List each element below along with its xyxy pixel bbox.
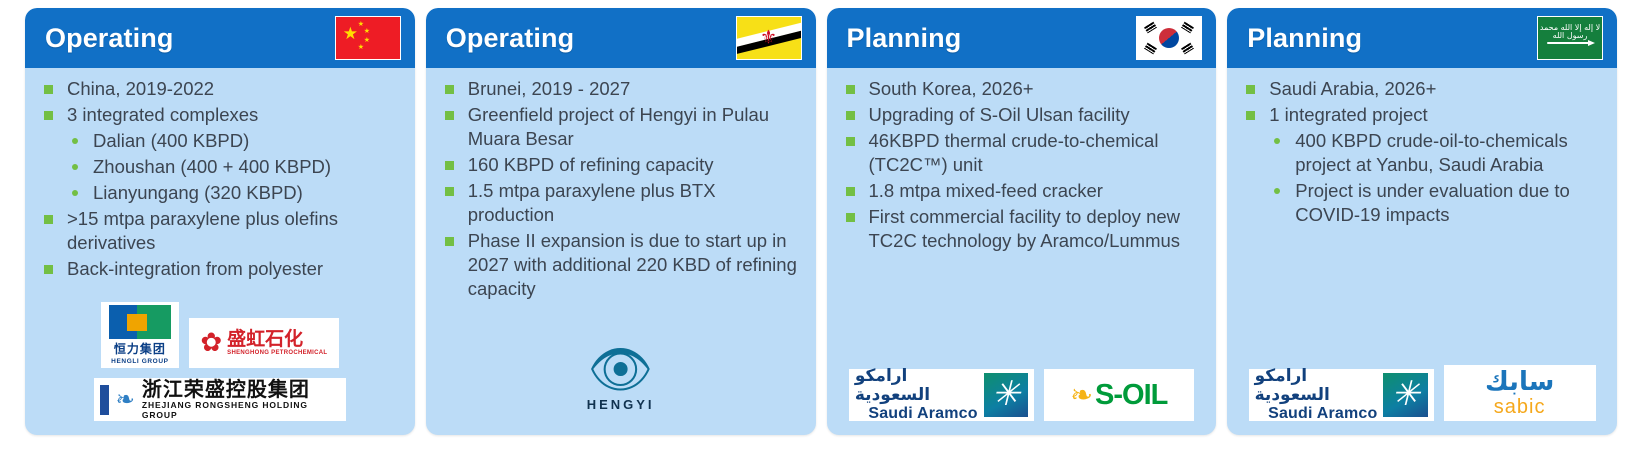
rongsheng-logo-cn: 浙江荣盛控股集团 <box>142 379 310 400</box>
list-item: Saudi Arabia, 2026+ <box>1241 77 1607 101</box>
card-header-china: Operating ★ ★ ★ ★ ★ <box>25 8 415 68</box>
bullet-list: Brunei, 2019 - 2027 Greenfield project o… <box>440 77 806 301</box>
project-status-card-board: Operating ★ ★ ★ ★ ★ China, 2019-2022 3 i… <box>0 0 1642 454</box>
list-item: 46KBPD thermal crude-to-chemical (TC2C™)… <box>841 129 1207 177</box>
flag-trigram <box>1144 22 1157 34</box>
list-item: First commercial facility to deploy new … <box>841 205 1207 253</box>
flag-star-large: ★ <box>343 25 358 42</box>
aramco-emblem-icon <box>984 373 1028 417</box>
flag-crest-icon: ⚜ <box>760 29 777 48</box>
card-body-china: China, 2019-2022 3 integrated complexes … <box>25 68 415 298</box>
s-oil-logo-en: S-OIL <box>1095 379 1167 412</box>
card-header-saudi-arabia: Planning لا إله إلا الله محمد رسول الله <box>1227 8 1617 68</box>
bullet-sublist: 400 KBPD crude-oil-to-chemicals project … <box>1267 129 1607 227</box>
status-title: Operating <box>45 25 173 52</box>
aramco-logo-en: Saudi Aramco <box>868 405 977 423</box>
project-card-south-korea: Planning South Korea, 2026+ Upgrading of… <box>827 8 1217 435</box>
flag-star-small: ★ <box>364 37 370 44</box>
list-item: Project is under evaluation due to COVID… <box>1267 179 1607 227</box>
hengli-group-logo: 恒力集团 HENGLI GROUP <box>101 302 179 368</box>
hengli-logo-en: HENGLI GROUP <box>111 358 168 365</box>
list-item: Back-integration from polyester <box>39 257 405 281</box>
list-item: 160 KBPD of refining capacity <box>440 153 806 177</box>
list-item: China, 2019-2022 <box>39 77 405 101</box>
saudi-aramco-logo: ارامكو السعودية Saudi Aramco <box>849 369 1034 421</box>
sabic-logo-en: sabic <box>1494 397 1546 417</box>
partner-logos-brunei: 👁 HENGYI <box>426 333 816 435</box>
card-header-brunei: Operating ⚜ <box>426 8 816 68</box>
brunei-flag: ⚜ <box>736 16 802 60</box>
zhejiang-rongsheng-holding-group-logo: ❧ 浙江荣盛控股集团 ZHEJIANG RONGSHENG HOLDING GR… <box>94 378 346 421</box>
status-title: Operating <box>446 25 574 52</box>
shenghong-swirl-icon: ✿ <box>200 330 222 356</box>
list-item: Greenfield project of Hengyi in Pulau Mu… <box>440 103 806 151</box>
list-item: Brunei, 2019 - 2027 <box>440 77 806 101</box>
card-header-south-korea: Planning <box>827 8 1217 68</box>
card-body-brunei: Brunei, 2019 - 2027 Greenfield project o… <box>426 68 816 333</box>
status-title: Planning <box>1247 25 1362 52</box>
list-item: >15 mtpa paraxylene plus olefins derivat… <box>39 207 405 255</box>
hengyi-logo-en: HENGYI <box>587 397 655 412</box>
aramco-logo-en: Saudi Aramco <box>1268 405 1377 423</box>
list-item: 1 integrated project <box>1241 103 1607 127</box>
project-card-saudi-arabia: Planning لا إله إلا الله محمد رسول الله … <box>1227 8 1617 435</box>
partner-logos-saudi-arabia: ارامكو السعودية Saudi Aramco سابك sabic <box>1227 361 1617 435</box>
list-item: Upgrading of S-Oil Ulsan facility <box>841 103 1207 127</box>
list-item: 400 KBPD crude-oil-to-chemicals project … <box>1267 129 1607 177</box>
hengyi-mark-icon: 👁 <box>588 346 654 395</box>
aramco-emblem-icon <box>1383 373 1427 417</box>
hengli-mark-icon <box>109 305 171 339</box>
list-item: Phase II expansion is due to start up in… <box>440 229 806 301</box>
flag-star-small: ★ <box>364 28 370 35</box>
list-item: Zhoushan (400 + 400 KBPD) <box>65 155 405 179</box>
bullet-list-continued: >15 mtpa paraxylene plus olefins derivat… <box>39 207 405 281</box>
rongsheng-bar-icon <box>100 385 109 415</box>
aramco-logo-ar: ارامكو السعودية <box>855 367 978 404</box>
flag-trigram <box>1181 22 1194 34</box>
sabic-logo-ar: سابك <box>1485 369 1554 396</box>
card-body-saudi-arabia: Saudi Arabia, 2026+ 1 integrated project… <box>1227 68 1617 361</box>
hengyi-logo: 👁 HENGYI <box>556 337 686 421</box>
card-body-south-korea: South Korea, 2026+ Upgrading of S-Oil Ul… <box>827 68 1217 365</box>
bullet-list: Saudi Arabia, 2026+ 1 integrated project <box>1241 77 1607 127</box>
flag-star-small: ★ <box>358 44 364 51</box>
china-flag: ★ ★ ★ ★ ★ <box>335 16 401 60</box>
s-oil-logo: ❧ S-OIL <box>1044 369 1194 421</box>
hengli-logo-cn: 恒力集团 <box>114 340 166 357</box>
saudi-aramco-logo: ارامكو السعودية Saudi Aramco <box>1249 369 1434 421</box>
list-item: 1.8 mtpa mixed-feed cracker <box>841 179 1207 203</box>
aramco-logo-ar: ارامكو السعودية <box>1255 367 1378 404</box>
partner-logos-south-korea: ارامكو السعودية Saudi Aramco ❧ S-OIL <box>827 365 1217 435</box>
flag-shahada-text: لا إله إلا الله محمد رسول الله <box>1538 24 1602 40</box>
rongsheng-logo-en: ZHEJIANG RONGSHENG HOLDING GROUP <box>142 400 340 420</box>
shenghong-logo-cn: 盛虹石化 <box>227 330 303 350</box>
south-korea-flag <box>1136 16 1202 60</box>
status-title: Planning <box>847 25 962 52</box>
list-item: Lianyungang (320 KBPD) <box>65 181 405 205</box>
flag-trigram <box>1144 43 1157 55</box>
partner-logos-china: 恒力集团 HENGLI GROUP ✿ 盛虹石化 SHENGHONG PETRO… <box>25 298 415 435</box>
list-item: 1.5 mtpa paraxylene plus BTX production <box>440 179 806 227</box>
shenghong-petrochemical-logo: ✿ 盛虹石化 SHENGHONG PETROCHEMICAL <box>189 318 339 368</box>
flag-trigram <box>1181 43 1194 55</box>
project-card-china: Operating ★ ★ ★ ★ ★ China, 2019-2022 3 i… <box>25 8 415 435</box>
shenghong-logo-en: SHENGHONG PETROCHEMICAL <box>227 350 327 356</box>
s-oil-sun-icon: ❧ <box>1070 382 1093 409</box>
flag-taeguk-icon <box>1159 28 1179 48</box>
bullet-list: South Korea, 2026+ Upgrading of S-Oil Ul… <box>841 77 1207 253</box>
flag-sword-icon <box>1547 42 1593 44</box>
project-card-brunei: Operating ⚜ Brunei, 2019 - 2027 Greenfie… <box>426 8 816 435</box>
rongsheng-wave-icon: ❧ <box>116 388 135 411</box>
list-item: Dalian (400 KBPD) <box>65 129 405 153</box>
sabic-logo: سابك sabic <box>1444 365 1596 421</box>
list-item: 3 integrated complexes <box>39 103 405 127</box>
flag-star-small: ★ <box>358 21 364 28</box>
bullet-sublist: Dalian (400 KBPD) Zhoushan (400 + 400 KB… <box>65 129 405 205</box>
bullet-list: China, 2019-2022 3 integrated complexes <box>39 77 405 127</box>
list-item: South Korea, 2026+ <box>841 77 1207 101</box>
saudi-arabia-flag: لا إله إلا الله محمد رسول الله <box>1537 16 1603 60</box>
